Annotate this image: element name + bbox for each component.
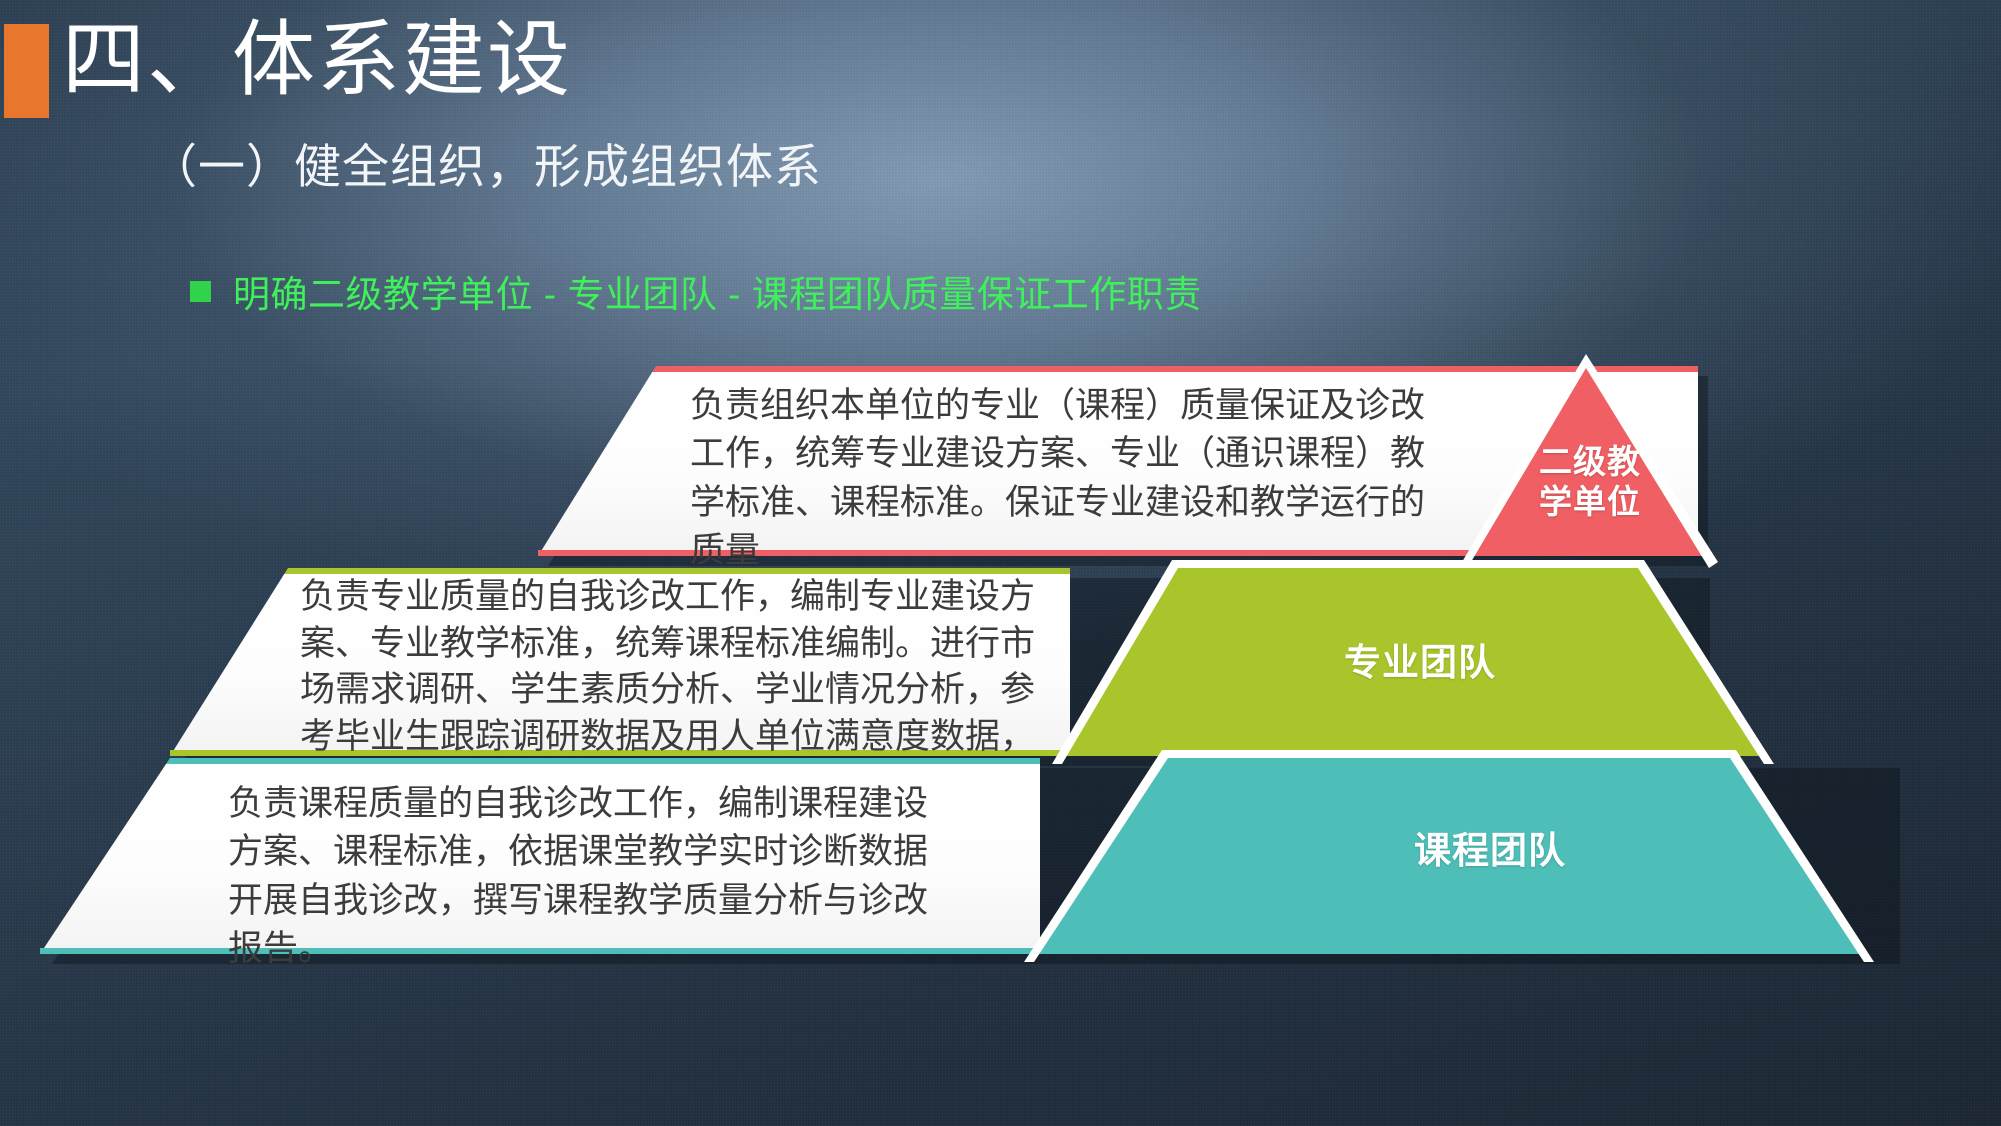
pyramid-diagram: 负责组织本单位的专业（课程）质量保证及诊改工作，统筹专业建设方案、专业（通识课程…: [0, 330, 2001, 1010]
bullet-item-label: 明确二级教学单位 - 专业团队 - 课程团队质量保证工作职责: [233, 264, 1202, 318]
page-title: 四、体系建设: [62, 16, 572, 103]
square-bullet-icon: [190, 281, 211, 302]
tier-top-label-line1: 二级教: [1500, 442, 1680, 482]
tier-bottom-label: 课程团队: [1370, 828, 1610, 873]
title-accent-bar: [4, 24, 49, 118]
tier-top-label: 二级教 学单位: [1500, 442, 1680, 523]
tier-top-description: 负责组织本单位的专业（课程）质量保证及诊改工作，统筹专业建设方案、专业（通识课程…: [690, 382, 1430, 575]
tier-middle-label: 专业团队: [1300, 640, 1540, 685]
tier-top-label-line2: 学单位: [1500, 482, 1680, 522]
slide-canvas: 四、体系建设 （一）健全组织，形成组织体系 明确二级教学单位 - 专业团队 - …: [0, 0, 2001, 1126]
tier-bottom-description: 负责课程质量的自我诊改工作，编制课程建设方案、课程标准，依据课堂教学实时诊断数据…: [228, 780, 928, 973]
slide-subtitle: （一）健全组织，形成组织体系: [150, 128, 822, 197]
bullet-item: 明确二级教学单位 - 专业团队 - 课程团队质量保证工作职责: [190, 264, 1202, 318]
